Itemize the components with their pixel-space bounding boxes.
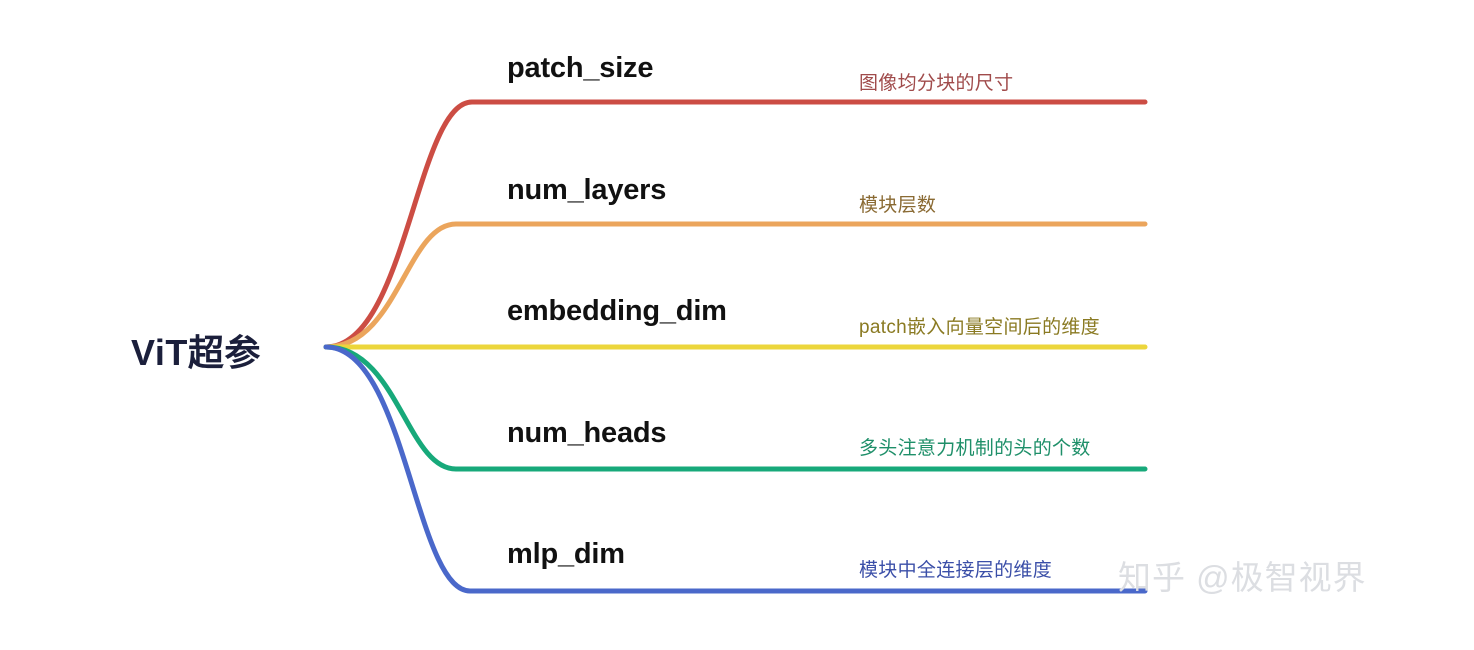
branch-desc-mlp-dim: 模块中全连接层的维度	[859, 555, 1052, 582]
branch-label-num-heads: num_heads	[507, 417, 666, 450]
branch-label-mlp-dim: mlp_dim	[507, 538, 625, 571]
branch-label-embedding-dim: embedding_dim	[507, 295, 727, 328]
branch-desc-patch-size: 图像均分块的尺寸	[859, 68, 1013, 95]
root-node-label: ViT超参	[131, 324, 261, 376]
watermark: 知乎 @极智视界	[1118, 551, 1367, 599]
branch-desc-num-layers: 模块层数	[859, 190, 936, 217]
branch-desc-embedding-dim: patch嵌入向量空间后的维度	[859, 312, 1100, 339]
branch-label-patch-size: patch_size	[507, 52, 653, 85]
branch-desc-num-heads: 多头注意力机制的头的个数	[859, 433, 1091, 460]
branch-label-num-layers: num_layers	[507, 174, 666, 207]
diagram-canvas: ViT超参 patch_size 图像均分块的尺寸 num_layers 模块层…	[0, 0, 1474, 650]
